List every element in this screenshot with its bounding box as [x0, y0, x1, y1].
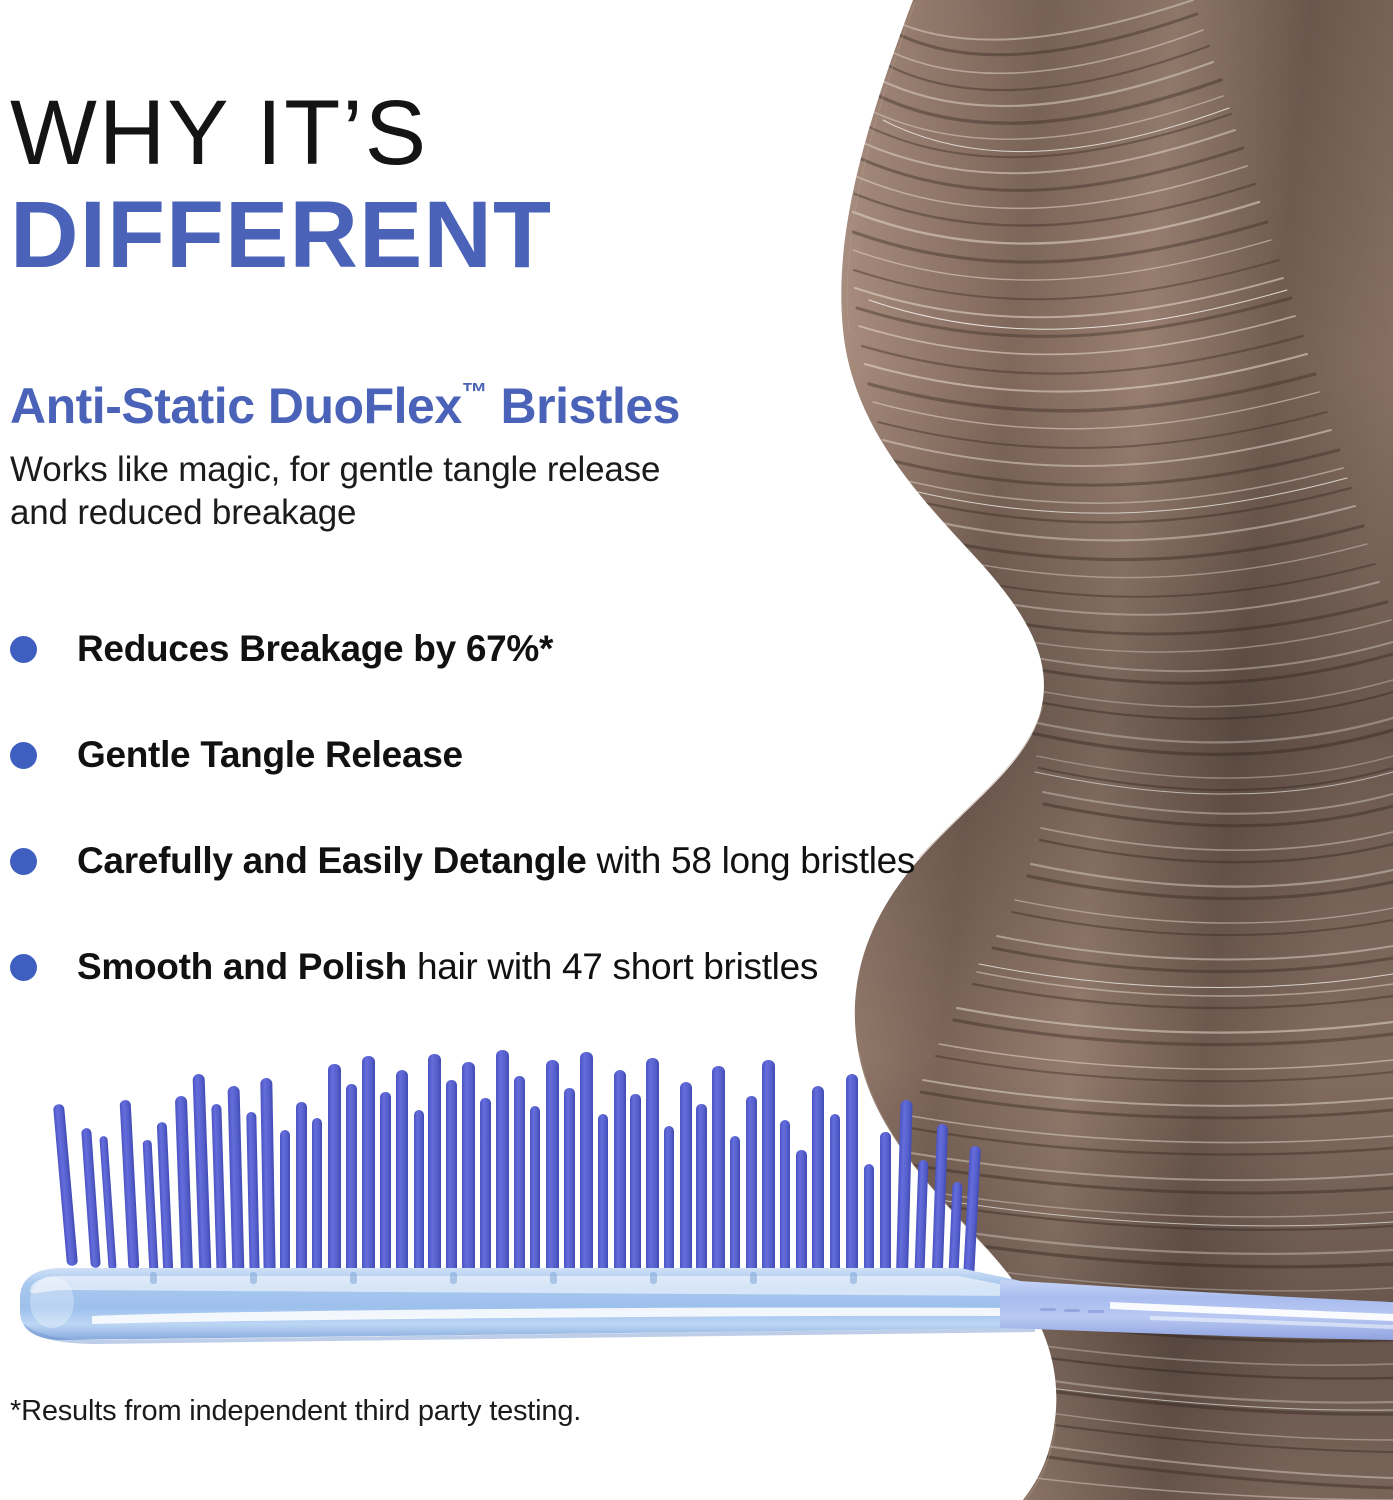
feature-section: Anti-Static DuoFlex™ Bristles Works like… [0, 285, 1120, 534]
product-image-brush [0, 1040, 1393, 1400]
list-item: Smooth and Polish hair with 47 short bri… [10, 914, 1120, 1020]
feature-title: Anti-Static DuoFlex™ Bristles [10, 377, 1120, 435]
bullet-bold-text: Reduces Breakage by 67%* [77, 628, 553, 669]
feature-description-line-2: and reduced breakage [10, 492, 1120, 535]
bullet-bold-text: Carefully and Easily Detangle [77, 840, 586, 881]
bullet-dot-icon [10, 954, 37, 981]
bullet-label: Smooth and Polish hair with 47 short bri… [77, 947, 818, 988]
headline-line-1: WHY IT’S [10, 88, 1120, 178]
brush-paddle [20, 1268, 1035, 1344]
trademark-symbol: ™ [462, 377, 488, 407]
bullet-label: Gentle Tangle Release [77, 735, 463, 776]
list-item: Reduces Breakage by 67%* [10, 596, 1120, 702]
brush-illustration [0, 1040, 1393, 1400]
brush-handle [1000, 1280, 1393, 1340]
bullet-label: Reduces Breakage by 67%* [77, 629, 553, 670]
brush-bristles [53, 1050, 981, 1298]
feature-bullet-list: Reduces Breakage by 67%* Gentle Tangle R… [0, 534, 1120, 1020]
page-title: WHY IT’S DIFFERENT [0, 0, 1120, 285]
list-item: Carefully and Easily Detangle with 58 lo… [10, 808, 1120, 914]
bullet-dot-icon [10, 636, 37, 663]
list-item: Gentle Tangle Release [10, 702, 1120, 808]
bullet-regular-text: hair with 47 short bristles [407, 946, 818, 987]
headline-line-2: DIFFERENT [10, 186, 1120, 285]
bullet-bold-text: Smooth and Polish [77, 946, 407, 987]
feature-title-main: Anti-Static DuoFlex [10, 378, 462, 434]
bullet-regular-text: with 58 long bristles [586, 840, 915, 881]
feature-description: Works like magic, for gentle tangle rele… [10, 449, 1120, 534]
bullet-dot-icon [10, 742, 37, 769]
content-column: WHY IT’S DIFFERENT Anti-Static DuoFlex™ … [0, 0, 1120, 1020]
bullet-bold-text: Gentle Tangle Release [77, 734, 463, 775]
feature-title-tail: Bristles [487, 378, 680, 434]
feature-description-line-1: Works like magic, for gentle tangle rele… [10, 449, 1120, 492]
bullet-dot-icon [10, 848, 37, 875]
footnote-text: *Results from independent third party te… [10, 1395, 581, 1428]
bullet-label: Carefully and Easily Detangle with 58 lo… [77, 841, 915, 882]
